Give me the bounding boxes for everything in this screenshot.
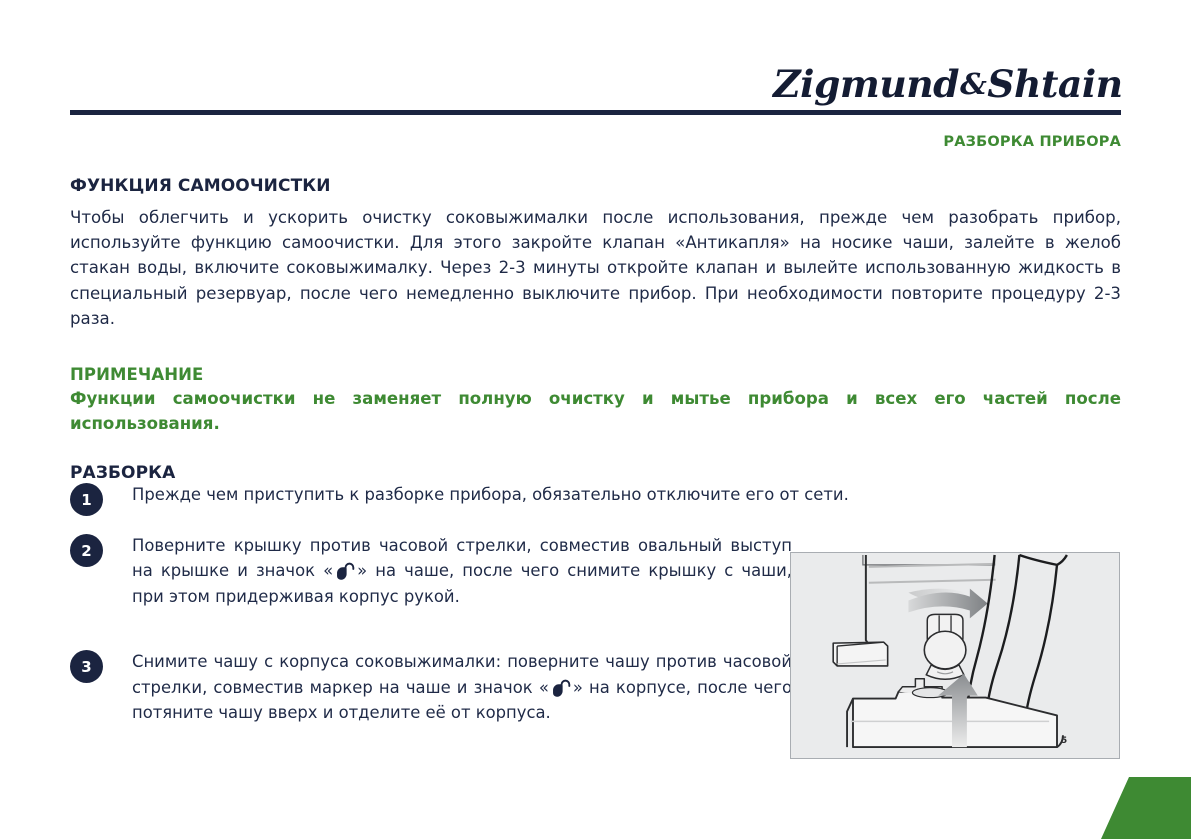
step-item: 1 Прежде чем приступить к разборке прибо… (70, 482, 1121, 516)
section-label: РАЗБОРКА ПРИБОРА (943, 134, 1121, 150)
brand-ampersand: & (959, 67, 987, 101)
step-number-badge: 2 (70, 534, 103, 567)
step-text: Прежде чем приступить к разборке прибора… (132, 482, 1112, 507)
step-text: Поверните крышку против часовой стрелки,… (132, 533, 792, 609)
selfclean-paragraph: Чтобы облегчить и ускорить очистку соков… (70, 205, 1121, 331)
step-number-badge: 3 (70, 650, 103, 683)
note-body: Функции самоочистки не заменяет полную о… (70, 386, 1121, 436)
brand-name-first: Zigmund (774, 62, 960, 106)
brand-logo: Zigmund&Shtain (774, 62, 1123, 106)
header-divider (70, 110, 1121, 115)
step-text: Снимите чашу с корпуса соковыжималки: по… (132, 649, 792, 725)
svg-text:5: 5 (1061, 736, 1067, 746)
open-padlock-icon (550, 679, 572, 698)
main-content: ФУНКЦИЯ САМООЧИСТКИ Чтобы облегчить и ус… (70, 176, 1121, 483)
disassembly-title: РАЗБОРКА (70, 463, 1121, 483)
note-title: ПРИМЕЧАНИЕ (70, 365, 1121, 384)
open-padlock-icon (334, 562, 356, 581)
step-number-badge: 1 (70, 483, 103, 516)
brand-name-second: Shtain (988, 62, 1123, 106)
page-canvas: Zigmund&Shtain РАЗБОРКА ПРИБОРА ФУНКЦИЯ … (0, 0, 1191, 839)
step-text-before: Прежде чем приступить к разборке прибора… (132, 485, 849, 504)
footer-corner-accent (1039, 777, 1191, 839)
note-block: ПРИМЕЧАНИЕ Функции самоочистки не заменя… (70, 365, 1121, 436)
juicer-disassembly-illustration: 5 (790, 552, 1120, 759)
selfclean-title: ФУНКЦИЯ САМООЧИСТКИ (70, 176, 1121, 196)
